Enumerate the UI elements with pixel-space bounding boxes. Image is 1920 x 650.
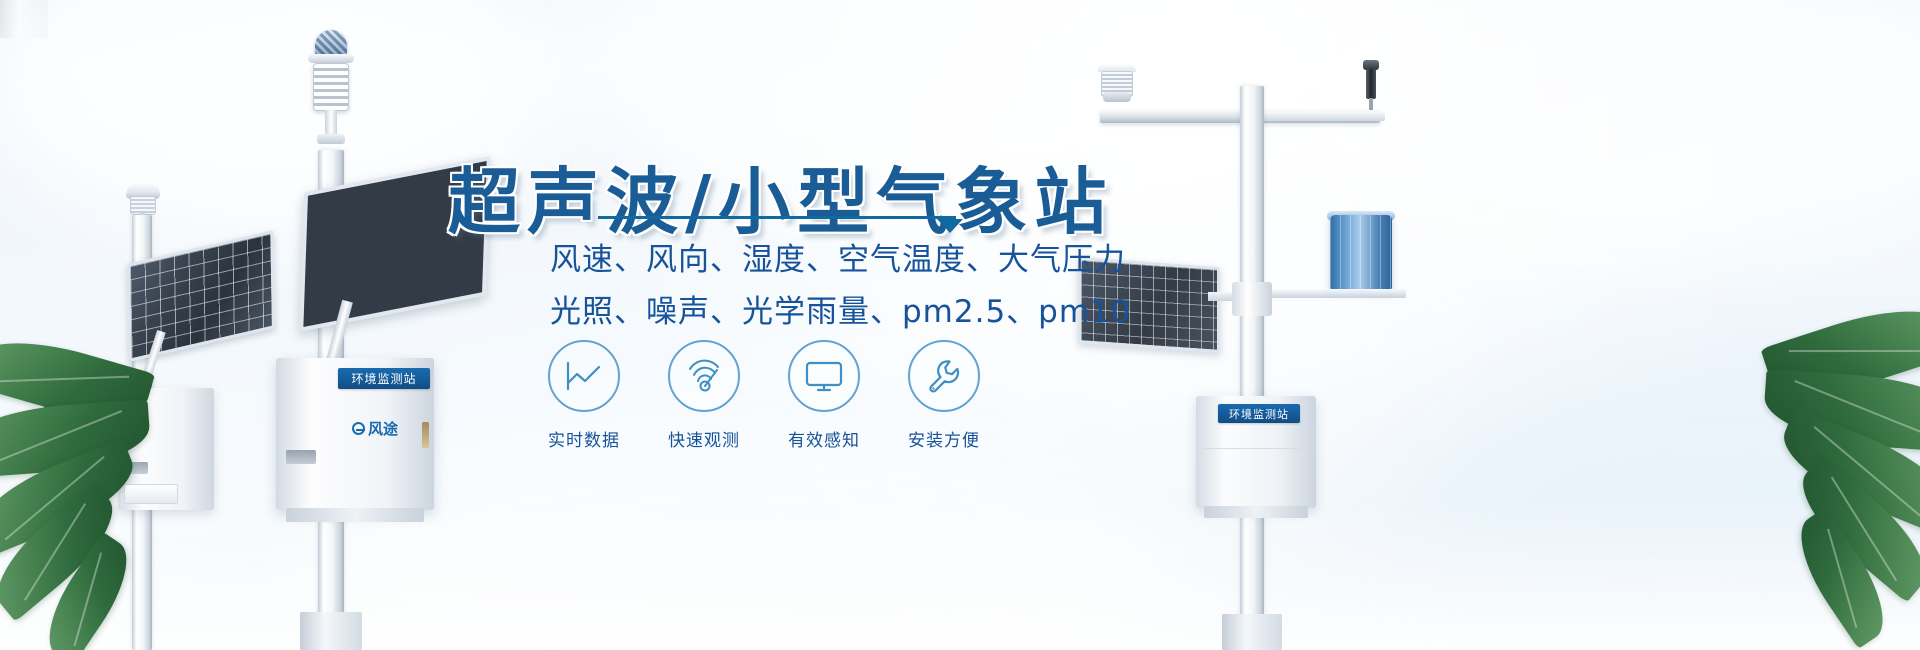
- black-optical-sensor-icon: [1362, 60, 1380, 108]
- brand-name: 风途: [368, 418, 398, 439]
- product-banner: 环境监测站 风途 环境监测站 风途: [0, 0, 1920, 650]
- subtitle-line-1: 风速、风向、湿度、空气温度、大气压力: [550, 234, 1126, 279]
- cabinet-vent: [286, 450, 316, 464]
- ultrasonic-sensor-icon: [126, 183, 160, 217]
- sensor-mount-plate: [1103, 92, 1131, 102]
- feature-item-effective-sensing[interactable]: 有效感知: [784, 340, 864, 460]
- down-triangle-icon: [937, 219, 963, 233]
- wrench-tool-icon: [908, 340, 980, 412]
- sensor-cap: [308, 54, 354, 63]
- sensor-body: [1366, 69, 1376, 99]
- cabinet-lock: [422, 422, 429, 448]
- station-base: [1222, 614, 1282, 650]
- cabinet-door-panel: [124, 484, 178, 504]
- station-base: [0, 0, 48, 38]
- sensor-collar: [317, 134, 345, 144]
- feature-label: 实时数据: [548, 426, 620, 451]
- feature-label: 有效感知: [788, 426, 860, 451]
- feature-label: 快速观测: [668, 426, 740, 451]
- cabinet-label: 环境监测站: [338, 368, 430, 389]
- brand-mark-icon: [352, 422, 365, 435]
- cabinet-base: [1204, 506, 1308, 518]
- mast-collar: [1232, 282, 1272, 316]
- monitor-screen-icon: [788, 340, 860, 412]
- ultrasonic-sensor-icon: [1098, 64, 1136, 110]
- cabinet-seam: [1204, 448, 1308, 449]
- cabinet-base: [286, 508, 424, 522]
- brand-logo: 风途: [352, 418, 398, 439]
- cabinet-label: 环境监测站: [1218, 404, 1300, 423]
- page-title: 超声波/小型气象站: [448, 166, 1128, 238]
- title-divider: [598, 216, 956, 219]
- sensor-stem: [325, 110, 337, 136]
- mast-pole: [1240, 86, 1264, 650]
- feature-item-realtime-data[interactable]: 实时数据: [544, 340, 624, 460]
- line-chart-icon: [548, 340, 620, 412]
- cross-arm-secondary: [1255, 112, 1385, 121]
- banner-content: 超声波/小型气象站 风速、风向、湿度、空气温度、大气压力 光照、噪声、光学雨量、…: [440, 0, 1060, 650]
- feature-item-easy-installation[interactable]: 安装方便: [904, 340, 984, 460]
- radar-signal-icon: [668, 340, 740, 412]
- rain-gauge-bucket: [1330, 215, 1392, 291]
- subtitle-line-2: 光照、噪声、光学雨量、pm2.5、pm10: [550, 286, 1132, 331]
- station-base: [300, 612, 362, 650]
- sensor-stack: [303, 30, 359, 152]
- rain-gauge-shelf: [1318, 289, 1406, 298]
- feature-list: 实时数据 快速观测: [544, 340, 1024, 460]
- feature-label: 安装方便: [908, 426, 980, 451]
- feature-item-fast-observation[interactable]: 快速观测: [664, 340, 744, 460]
- ultrasonic-sensor-icon: [315, 30, 347, 56]
- sensor-radiation-shield: [313, 63, 349, 111]
